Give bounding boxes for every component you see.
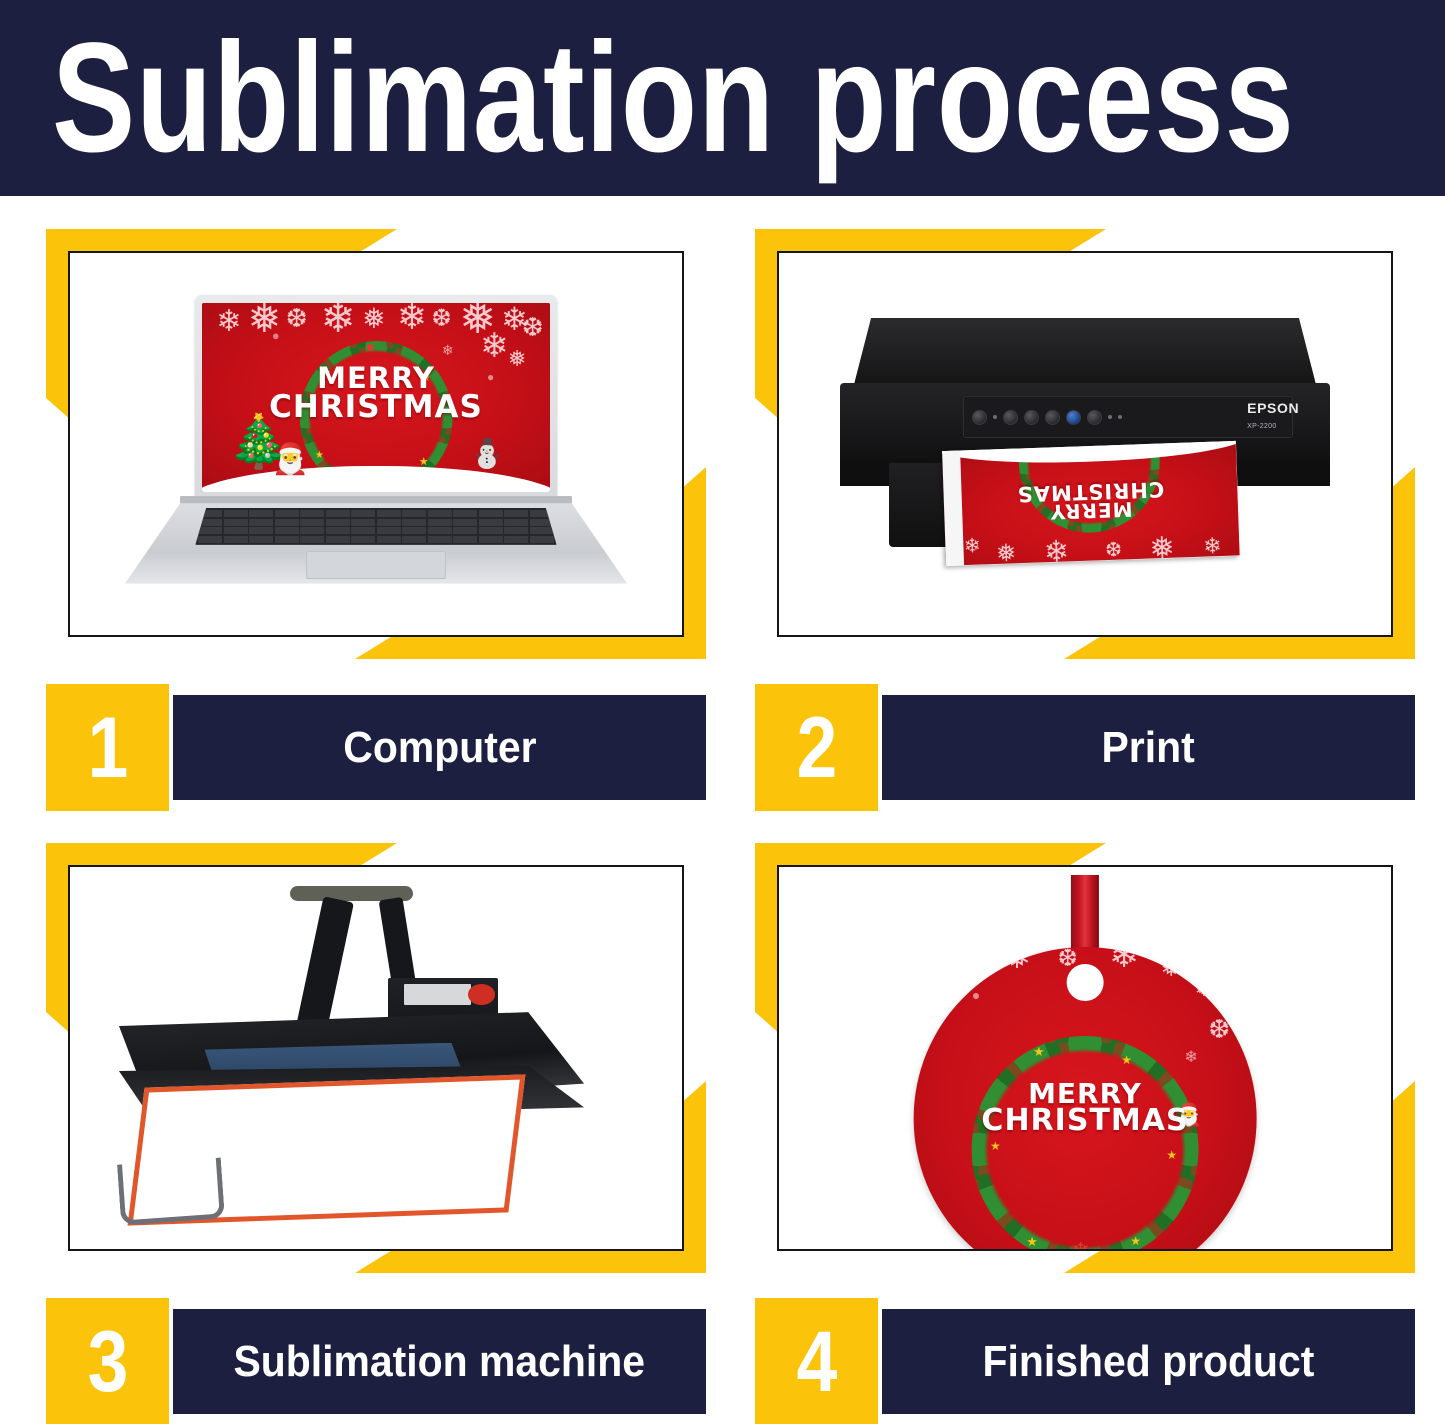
power-button-icon[interactable] (972, 410, 987, 425)
stop-button-icon[interactable] (1087, 410, 1102, 425)
ornament-illustration: ❄ ❅ ❆ ❄ ❅ ❄ ❆ ❄ ● ★ ★ ★ (779, 867, 1391, 1249)
santa-icon: 🎅 (272, 445, 309, 475)
step-number-3: 3 (87, 1319, 128, 1405)
photo-box-heat-press (68, 865, 684, 1251)
laptop-base (125, 503, 627, 583)
step-label-4: Finished product (983, 1340, 1315, 1384)
printer-control-panel[interactable] (963, 396, 1293, 438)
forward-button-icon[interactable] (1024, 410, 1039, 425)
step-number-badge-2: 2 (755, 684, 878, 811)
step-card-2: EPSON XP-2200 ❄ ❅ ❆ ❄ ❅ ❄ (755, 229, 1415, 812)
status-indicator-icon (993, 415, 997, 419)
bw-copy-button-icon[interactable] (1045, 410, 1060, 425)
caption-1: 1 Computer (46, 684, 706, 811)
image-frame-4: ❄ ❅ ❆ ❄ ❅ ❄ ❆ ❄ ● ★ ★ ★ (755, 843, 1415, 1273)
step-number-badge-3: 3 (46, 1298, 169, 1424)
step-label-1: Computer (343, 726, 536, 770)
christmas-wallpaper: ❄ ❅ ❆ ❄ ❅ ❄ ❆ ❅ ❄ ❆ ❄ ❅ (202, 303, 549, 492)
printed-christmas-design: ❄ ❅ ❆ ❄ ❅ ❄ MERRY CHRISTMAS (942, 441, 1240, 566)
image-frame-2: EPSON XP-2200 ❄ ❅ ❆ ❄ ❅ ❄ (755, 229, 1415, 659)
heat-press-illustration (70, 867, 682, 1249)
printer-scanner-lid (852, 318, 1317, 391)
wreath: ★ ★ ★ ★ ★ ★ ❄ 🎅 (972, 1036, 1198, 1251)
laptop-hinge (180, 496, 572, 504)
step-card-3: 3 Sublimation machine (46, 843, 706, 1424)
caption-4: 4 Finished product (755, 1298, 1415, 1424)
photo-box-ornament: ❄ ❅ ❆ ❄ ❅ ❄ ❆ ❄ ● ★ ★ ★ (777, 865, 1393, 1251)
wallpaper-greeting: MERRY CHRISTMAS (269, 365, 483, 421)
photo-box-computer: ❄ ❅ ❆ ❄ ❅ ❄ ❆ ❅ ❄ ❆ ❄ ❅ (68, 251, 684, 637)
printer-illustration: EPSON XP-2200 ❄ ❅ ❆ ❄ ❅ ❄ (779, 253, 1391, 635)
press-temperature-display (404, 984, 471, 1005)
laptop-keyboard (195, 508, 556, 545)
step-number-badge-1: 1 (46, 684, 169, 811)
ornament-greeting: MERRY CHRISTMAS (981, 1081, 1188, 1136)
image-frame-1: ❄ ❅ ❆ ❄ ❅ ❄ ❆ ❅ ❄ ❆ ❄ ❅ (46, 229, 706, 659)
laptop-screen: ❄ ❅ ❆ ❄ ❅ ❄ ❆ ❅ ❄ ❆ ❄ ❅ (202, 303, 549, 492)
printed-sheet: ❄ ❅ ❆ ❄ ❅ ❄ MERRY CHRISTMAS (942, 441, 1240, 566)
color-copy-button-icon[interactable] (1066, 410, 1081, 425)
snowman-icon: ⛄ (470, 440, 505, 468)
laptop-lid: ❄ ❅ ❆ ❄ ❅ ❄ ❆ ❅ ❄ ❆ ❄ ❅ (195, 295, 556, 505)
caption-2: 2 Print (755, 684, 1415, 811)
photo-box-printer: EPSON XP-2200 ❄ ❅ ❆ ❄ ❅ ❄ (777, 251, 1393, 637)
step-card-4: ❄ ❅ ❆ ❄ ❅ ❄ ❆ ❄ ● ★ ★ ★ (755, 843, 1415, 1424)
step-label-bar-4: Finished product (882, 1309, 1415, 1414)
step-label-3: Sublimation machine (234, 1340, 646, 1384)
step-label-bar-1: Computer (173, 695, 706, 800)
header-banner: Sublimation process (0, 0, 1445, 196)
step-label-2: Print (1102, 726, 1195, 770)
printer-brand-label: EPSON (1247, 400, 1299, 416)
step-label-bar-3: Sublimation machine (173, 1309, 706, 1414)
bow-icon: ❄ (1071, 1240, 1089, 1251)
step-card-1: ❄ ❅ ❆ ❄ ❅ ❄ ❆ ❅ ❄ ❆ ❄ ❅ (46, 229, 706, 812)
caption-3: 3 Sublimation machine (46, 1298, 706, 1424)
printer-model-label: XP-2200 (1247, 423, 1276, 430)
printed-greeting: MERRY CHRISTMAS (1017, 478, 1166, 522)
page-title: Sublimation process (52, 20, 1295, 176)
step-number-2: 2 (796, 705, 837, 791)
back-button-icon[interactable] (1003, 410, 1018, 425)
press-control-knob[interactable] (468, 984, 496, 1005)
infographic-page: Sublimation process ❄ ❅ ❆ ❄ (0, 0, 1445, 1424)
step-number-badge-4: 4 (755, 1298, 878, 1424)
ornament-hole (1067, 964, 1104, 1001)
step-label-bar-2: Print (882, 695, 1415, 800)
wreath-ring (972, 1036, 1198, 1251)
press-handle-arm-left (295, 896, 354, 1037)
image-frame-3 (46, 843, 706, 1273)
laptop-trackpad (306, 551, 447, 578)
step-number-1: 1 (87, 705, 128, 791)
paper-indicator-icon (1118, 415, 1122, 419)
platen-board-handle (117, 1158, 225, 1226)
ink-indicator-icon (1108, 415, 1112, 419)
step-number-4: 4 (796, 1319, 837, 1405)
laptop-illustration: ❄ ❅ ❆ ❄ ❅ ❄ ❆ ❅ ❄ ❆ ❄ ❅ (70, 253, 682, 635)
